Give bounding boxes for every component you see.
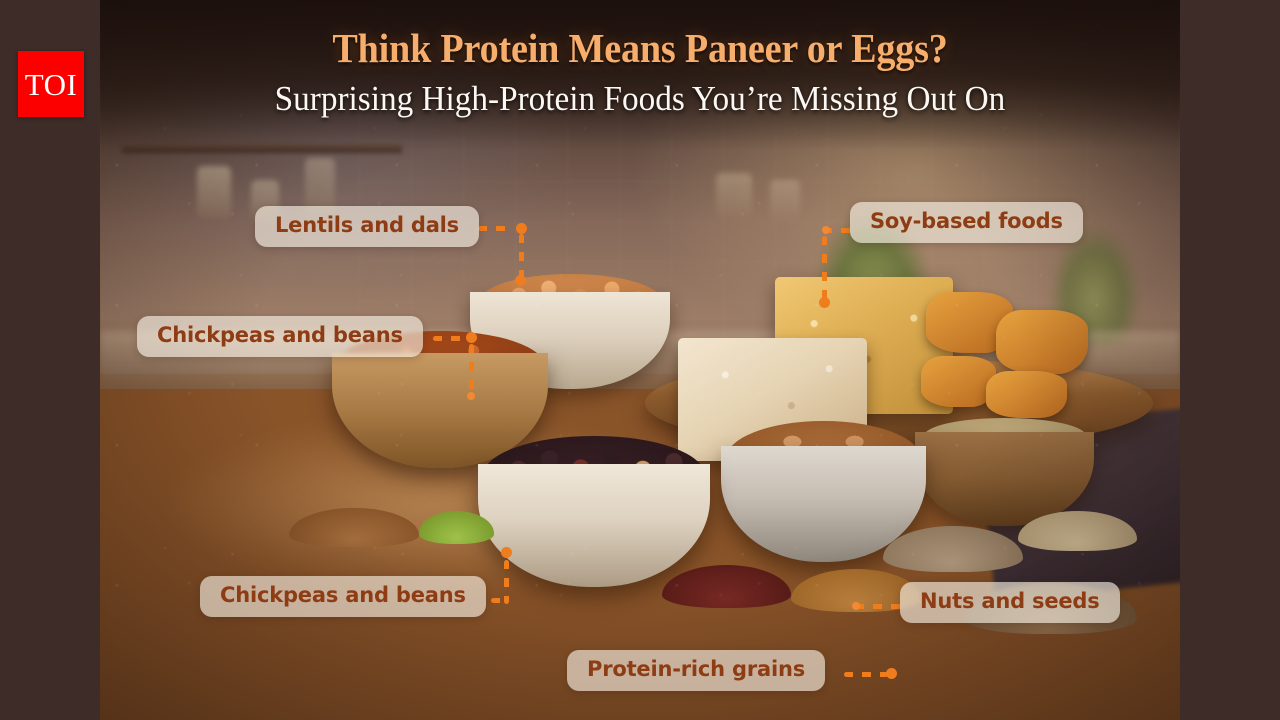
- page-title: Think Protein Means Paneer or Eggs?: [138, 24, 1142, 72]
- toi-logo[interactable]: TOI: [18, 51, 84, 117]
- callout-label: Protein-rich grains: [587, 659, 805, 680]
- callout-chickpeas-and-beans-upper[interactable]: Chickpeas and beans: [137, 316, 423, 357]
- callout-nuts-and-seeds[interactable]: Nuts and seeds: [900, 582, 1120, 623]
- jar-1: [197, 166, 231, 218]
- connector-nuts-end-dot: [852, 602, 860, 610]
- connector-soy-end-dot: [819, 297, 830, 308]
- headline-block: Think Protein Means Paneer or Eggs? Surp…: [100, 24, 1180, 120]
- connector-chickpeas-upper-vertical: [469, 344, 474, 396]
- connector-lentils-corner-dot: [516, 223, 527, 234]
- connector-grains-horizontal: [844, 672, 888, 677]
- connector-soy-vertical: [822, 236, 827, 301]
- soy-nugget-2: [996, 310, 1088, 375]
- connector-lentils-horizontal: [478, 226, 514, 231]
- callout-label: Nuts and seeds: [920, 591, 1100, 612]
- connector-grains-end-dot: [886, 668, 897, 679]
- callout-label: Soy-based foods: [870, 211, 1063, 232]
- callout-label: Lentils and dals: [275, 215, 459, 236]
- callout-soy-based-foods[interactable]: Soy-based foods: [850, 202, 1083, 243]
- connector-nuts-horizontal: [855, 604, 901, 609]
- connector-lentils-vertical: [519, 234, 524, 278]
- callout-lentils-and-dals[interactable]: Lentils and dals: [255, 206, 479, 247]
- kitchen-shelf: [122, 144, 403, 153]
- soy-nugget-4: [986, 371, 1067, 418]
- connector-soy-corner-dot: [822, 226, 830, 234]
- callout-chickpeas-and-beans-lower[interactable]: Chickpeas and beans: [200, 576, 486, 617]
- jar-4: [716, 173, 752, 219]
- connector-chickpeas-lower-end-dot: [501, 547, 512, 558]
- connector-chickpeas-upper-end-dot: [467, 392, 475, 400]
- connector-chickpeas-lower-vertical: [504, 560, 509, 604]
- food-photo: Think Protein Means Paneer or Eggs? Surp…: [100, 0, 1180, 720]
- callout-label: Chickpeas and beans: [220, 585, 466, 606]
- connector-chickpeas-upper-corner-dot: [466, 332, 477, 343]
- page-subtitle: Surprising High-Protein Foods You’re Mis…: [127, 78, 1153, 120]
- connector-chickpeas-upper-horizontal: [433, 336, 467, 341]
- toi-logo-text: TOI: [25, 69, 78, 100]
- jar-5: [770, 180, 800, 222]
- callout-label: Chickpeas and beans: [157, 325, 403, 346]
- connector-lentils-end-dot: [515, 275, 526, 286]
- callout-protein-rich-grains[interactable]: Protein-rich grains: [567, 650, 825, 691]
- infographic-canvas: TOI: [0, 0, 1280, 720]
